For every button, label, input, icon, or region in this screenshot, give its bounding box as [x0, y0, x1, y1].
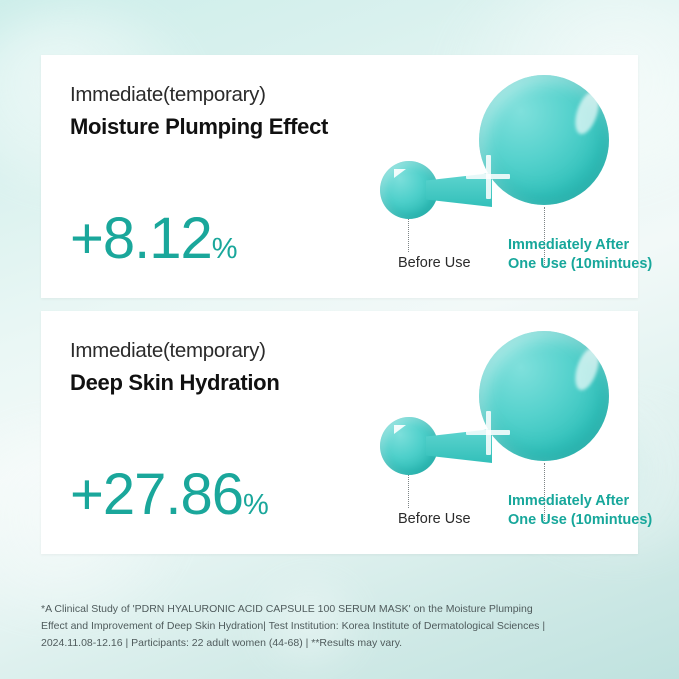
card-headline: Deep Skin Hydration	[70, 369, 279, 397]
label-after-use: Immediately After One Use (10mintues)	[508, 492, 652, 530]
stat-card-deep-hydration: Immediate(temporary) Deep Skin Hydration…	[41, 311, 638, 554]
droplet-highlight-triangle-icon	[394, 425, 406, 434]
card-value: +27.86%	[70, 466, 268, 524]
plus-sparkle-icon	[466, 411, 510, 455]
footnote-line-3: 2024.11.08-12.16 | Participants: 22 adul…	[41, 635, 626, 652]
label-after-line1: Immediately After	[508, 236, 652, 255]
card-value-number: +8.12	[70, 206, 212, 271]
card-eyebrow: Immediate(temporary)	[70, 338, 279, 364]
plus-sparkle-icon	[466, 155, 510, 199]
card-value-number: +27.86	[70, 462, 243, 527]
card-headline: Moisture Plumping Effect	[70, 113, 328, 141]
label-after-line1: Immediately After	[508, 492, 652, 511]
card-value: +8.12%	[70, 210, 237, 268]
label-after-line2: One Use (10mintues)	[508, 255, 652, 274]
footnote-line-1: *A Clinical Study of 'PDRN HYALURONIC AC…	[41, 601, 626, 618]
label-before-use: Before Use	[398, 255, 471, 271]
droplet-highlight-triangle-icon	[394, 169, 406, 178]
label-after-line2: One Use (10mintues)	[508, 511, 652, 530]
stat-card-moisture-plumping: Immediate(temporary) Moisture Plumping E…	[41, 55, 638, 298]
water-drop-figure: Before Use Immediately After One Use (10…	[338, 55, 638, 298]
promotional-infographic: Immediate(temporary) Moisture Plumping E…	[0, 0, 679, 679]
footnote: *A Clinical Study of 'PDRN HYALURONIC AC…	[41, 601, 626, 652]
card-value-unit: %	[243, 489, 268, 521]
label-before-use: Before Use	[398, 511, 471, 527]
footnote-line-2: Effect and Improvement of Deep Skin Hydr…	[41, 618, 626, 635]
leader-line-before	[408, 475, 409, 508]
water-drop-figure: Before Use Immediately After One Use (10…	[338, 311, 638, 554]
card-eyebrow: Immediate(temporary)	[70, 82, 328, 108]
card-value-unit: %	[212, 233, 237, 265]
card-text-block: Immediate(temporary) Moisture Plumping E…	[70, 82, 328, 140]
label-after-use: Immediately After One Use (10mintues)	[508, 236, 652, 274]
card-text-block: Immediate(temporary) Deep Skin Hydration	[70, 338, 279, 396]
leader-line-before	[408, 219, 409, 252]
